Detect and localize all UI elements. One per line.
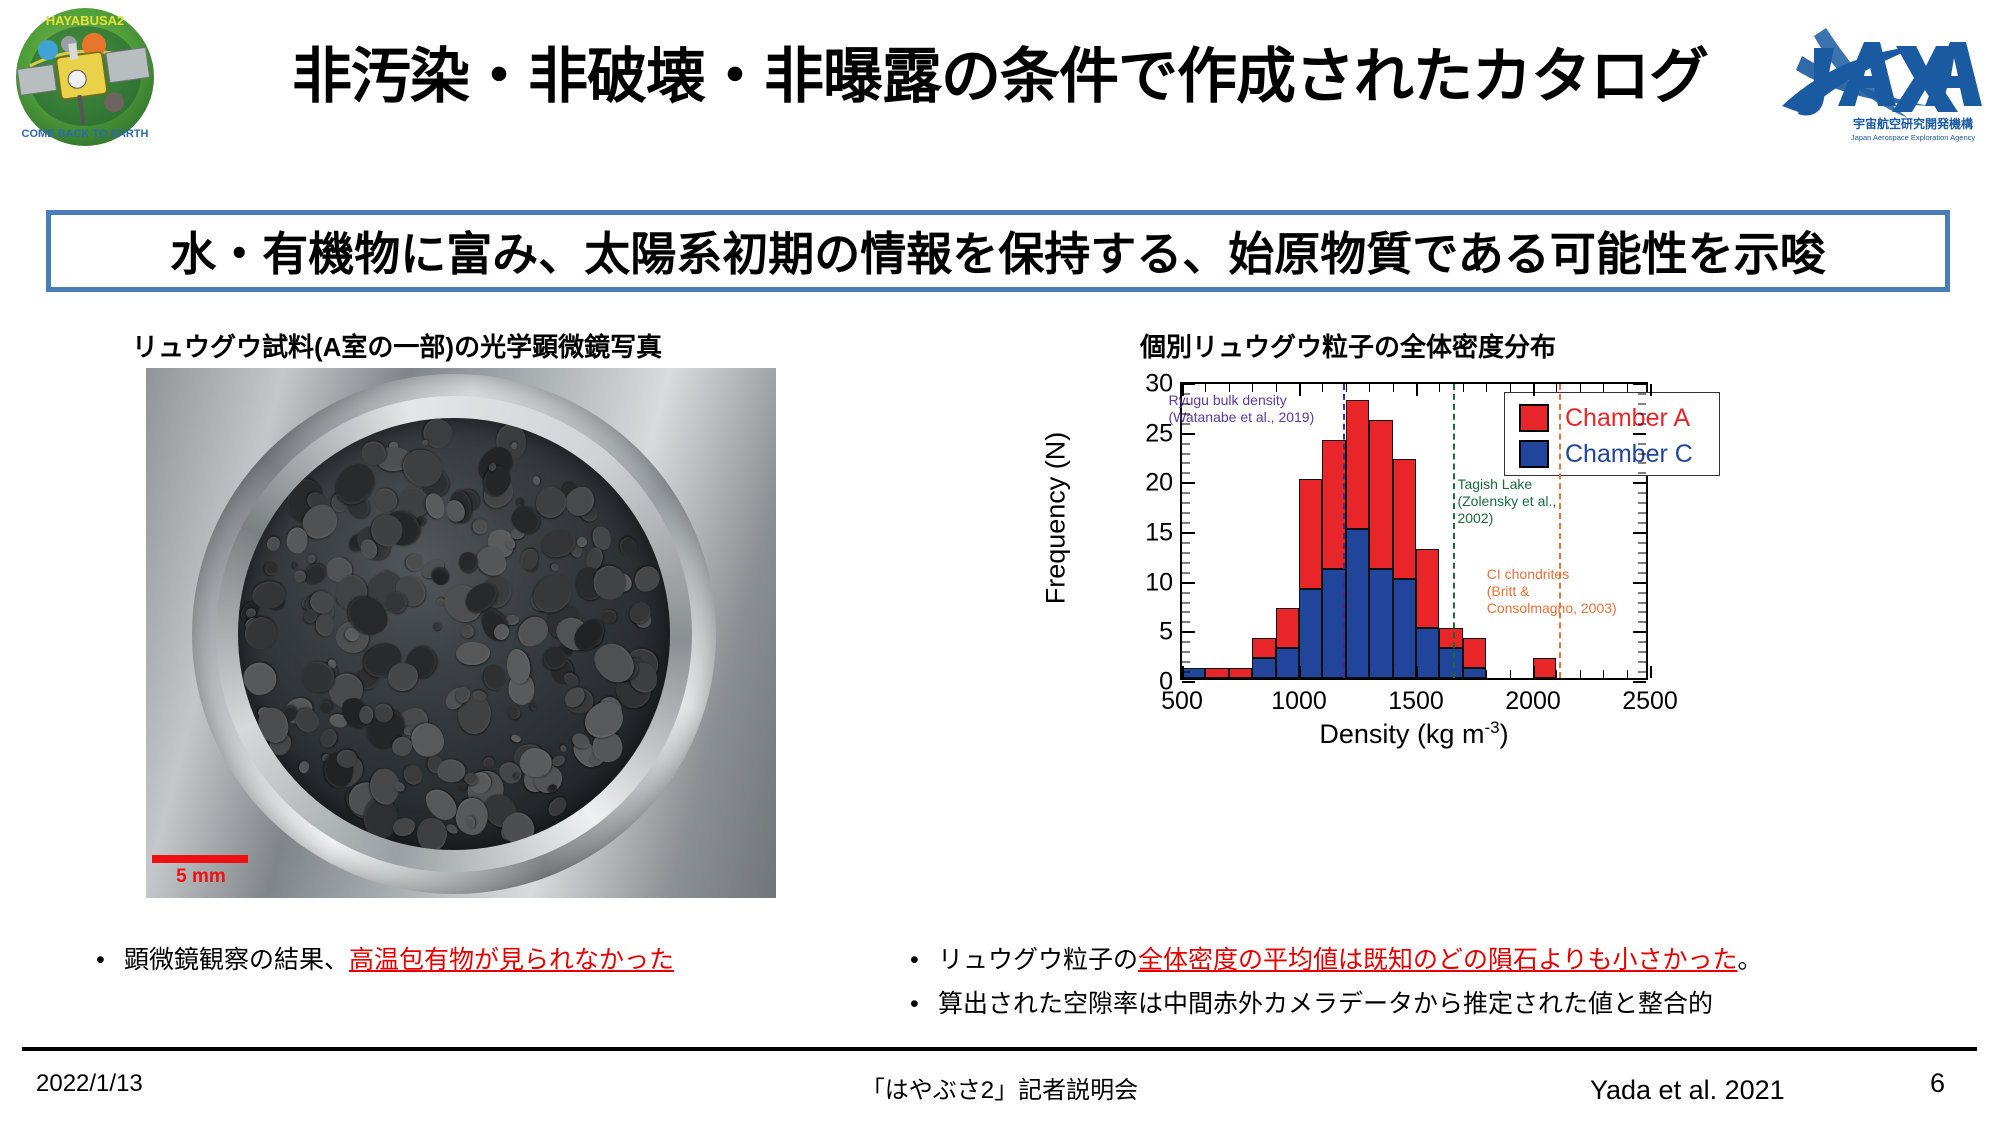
y-tick-mark xyxy=(1638,602,1646,603)
x-axis-label-base: Density (kg m xyxy=(1319,719,1484,749)
x-tick-mark xyxy=(1229,384,1230,392)
x-tick-mark xyxy=(1627,384,1628,392)
bullet-text-highlight: 高温包有物が見られなかった xyxy=(349,946,674,974)
bar-segment-chamber-a xyxy=(1533,658,1556,678)
x-tick-mark xyxy=(1182,666,1184,678)
left-panel-caption: リュウグウ試料(A室の一部)の光学顕微鏡写真 xyxy=(132,327,792,364)
x-tick-mark xyxy=(1346,670,1347,678)
x-tick-label: 1500 xyxy=(1388,687,1444,716)
reference-label-line: Consolmagno, 2003) xyxy=(1487,600,1617,617)
reference-line-tagish xyxy=(1453,384,1455,678)
y-tick-mark xyxy=(1182,582,1195,584)
x-tick-mark xyxy=(1439,384,1440,392)
sample-grain xyxy=(437,759,465,782)
y-tick-mark xyxy=(1182,562,1190,563)
y-tick-mark xyxy=(1182,602,1190,603)
sample-grain xyxy=(550,562,561,572)
sample-grain xyxy=(432,621,442,631)
right-panel-caption: 個別リュウグウ粒子の全体密度分布 xyxy=(1140,327,1700,364)
svg-text:COME BACK TO EARTH: COME BACK TO EARTH xyxy=(22,128,149,140)
histogram-bar xyxy=(1346,400,1369,678)
sample-grain xyxy=(316,726,340,751)
sample-grain xyxy=(510,733,522,743)
sample-grain xyxy=(358,705,373,724)
bar-segment-chamber-a xyxy=(1276,608,1299,648)
x-tick-label: 500 xyxy=(1161,687,1203,716)
bar-segment-chamber-c xyxy=(1393,579,1416,678)
x-tick-mark xyxy=(1580,384,1581,392)
reference-label-line: Tagish Lake xyxy=(1457,476,1556,493)
jaxa-logo-sub-en: Japan Aerospace Exploration Agency xyxy=(1851,133,1976,142)
y-tick-mark xyxy=(1638,473,1646,474)
reference-label-tagish: Tagish Lake(Zolensky et al.,2002) xyxy=(1457,476,1556,527)
x-tick-mark xyxy=(1322,384,1323,392)
sample-grain xyxy=(457,550,479,573)
x-tick-mark xyxy=(1299,384,1301,396)
y-tick-mark xyxy=(1638,542,1646,543)
y-tick-mark xyxy=(1638,642,1646,643)
sample-grain xyxy=(559,744,568,753)
y-tick-mark xyxy=(1638,503,1646,504)
x-tick-mark xyxy=(1627,670,1628,678)
y-tick-mark xyxy=(1638,652,1646,653)
y-tick-mark xyxy=(1638,572,1646,573)
reference-label-line: (Zolensky et al., xyxy=(1457,493,1556,510)
y-tick-mark xyxy=(1182,652,1190,653)
y-tick-mark xyxy=(1638,403,1646,404)
reference-label-ryugu: Ryugu bulk density(Watanabe et al., 2019… xyxy=(1168,392,1314,426)
x-tick-mark xyxy=(1533,666,1535,678)
legend-label-chamber-c: Chamber C xyxy=(1565,440,1693,469)
y-tick-mark xyxy=(1633,532,1646,534)
x-tick-mark xyxy=(1580,670,1581,678)
bar-segment-chamber-a xyxy=(1229,668,1252,678)
legend-entry-chamber-c: Chamber C xyxy=(1519,436,1719,472)
x-tick-mark xyxy=(1486,384,1487,392)
x-tick-mark xyxy=(1346,384,1347,392)
x-tick-label: 2000 xyxy=(1505,687,1561,716)
x-tick-label: 1000 xyxy=(1271,687,1327,716)
sample-grain xyxy=(629,561,665,596)
y-tick-mark xyxy=(1182,542,1190,543)
x-tick-mark xyxy=(1229,670,1230,678)
bar-segment-chamber-c xyxy=(1182,668,1205,678)
y-tick-mark xyxy=(1638,562,1646,563)
x-tick-mark xyxy=(1393,384,1394,392)
scale-bar-label: 5 mm xyxy=(146,866,256,888)
y-tick-mark xyxy=(1182,572,1190,573)
reference-label-line: CI chondrites xyxy=(1487,566,1617,583)
sample-grain xyxy=(421,439,429,446)
sample-grain xyxy=(482,663,508,692)
sample-grain xyxy=(371,514,402,546)
y-tick-mark xyxy=(1633,383,1646,385)
bullet-text-plain: 算出された空隙率は中間赤外カメラデータから推定された値と整合的 xyxy=(938,990,1713,1018)
legend-swatch-chamber-a xyxy=(1519,404,1549,432)
y-tick-label: 15 xyxy=(1145,519,1173,548)
legend-entry-chamber-a: Chamber A xyxy=(1519,400,1719,436)
x-tick-mark xyxy=(1650,384,1652,396)
x-tick-mark xyxy=(1533,384,1535,396)
histogram-bar xyxy=(1299,479,1322,678)
sample-grain xyxy=(418,418,457,453)
y-tick-mark xyxy=(1182,433,1195,435)
chart-plot-area: Chamber A Chamber C Ryugu bulk density(W… xyxy=(1180,382,1648,680)
sample-grain xyxy=(297,760,310,774)
sample-grain xyxy=(315,614,334,636)
sample-grain xyxy=(455,642,489,665)
x-tick-mark xyxy=(1369,670,1370,678)
x-tick-mark xyxy=(1463,384,1464,392)
y-tick-mark xyxy=(1638,493,1646,494)
y-tick-mark xyxy=(1633,681,1646,683)
bar-segment-chamber-a xyxy=(1439,628,1462,648)
x-axis-label-tail: ) xyxy=(1500,719,1509,749)
chart-x-axis-label: Density (kg m-3) xyxy=(1180,718,1648,750)
sample-grain xyxy=(505,702,523,720)
y-tick-mark xyxy=(1182,503,1190,504)
y-tick-mark xyxy=(1182,403,1190,404)
y-tick-mark xyxy=(1638,552,1646,553)
bar-segment-chamber-a xyxy=(1205,668,1228,678)
bar-segment-chamber-c xyxy=(1369,569,1392,678)
hayabusa2-mission-patch-icon: HAYABUSA2 COME BACK TO EARTH xyxy=(14,6,156,148)
y-tick-mark xyxy=(1638,523,1646,524)
reference-label-line: 2002) xyxy=(1457,510,1556,527)
x-tick-mark xyxy=(1205,670,1206,678)
y-tick-mark xyxy=(1638,592,1646,593)
bar-segment-chamber-c xyxy=(1439,648,1462,678)
histogram-bar xyxy=(1182,668,1205,678)
bullet-marker: • xyxy=(910,946,938,975)
x-tick-mark xyxy=(1252,384,1253,392)
sample-grain xyxy=(482,756,496,769)
histogram-bar xyxy=(1205,668,1228,678)
bullet-text-tail: 。 xyxy=(1738,946,1763,974)
y-tick-label: 25 xyxy=(1145,419,1173,448)
x-tick-mark xyxy=(1510,670,1511,678)
bar-segment-chamber-c xyxy=(1252,658,1275,678)
y-tick-mark xyxy=(1182,493,1190,494)
bar-segment-chamber-a xyxy=(1299,479,1322,588)
histogram-bar xyxy=(1393,459,1416,678)
histogram-bar xyxy=(1533,658,1556,678)
bullet-right-2: •算出された空隙率は中間赤外カメラデータから推定された値と整合的 xyxy=(910,984,1713,1020)
density-histogram-chart: Frequency (N) Chamber A Chamber C Ryugu … xyxy=(1060,368,1700,748)
y-tick-mark xyxy=(1638,393,1646,394)
y-tick-label: 5 xyxy=(1159,618,1173,647)
svg-text:HAYABUSA2: HAYABUSA2 xyxy=(46,13,125,28)
histogram-bar xyxy=(1439,628,1462,678)
x-tick-mark xyxy=(1463,670,1464,678)
reference-line-ryugu xyxy=(1343,384,1345,678)
y-tick-mark xyxy=(1638,413,1646,414)
y-tick-mark xyxy=(1633,631,1646,633)
jaxa-logo-sub-jp: 宇宙航空研究開発機構 xyxy=(1853,116,1973,131)
y-tick-mark xyxy=(1182,631,1195,633)
x-tick-mark xyxy=(1276,384,1277,392)
bullet-marker: • xyxy=(910,990,938,1019)
bullet-text-highlight: 全体密度の平均値は既知のどの隕石よりも小さかった xyxy=(1138,946,1738,974)
sample-grain xyxy=(318,699,334,715)
bar-segment-chamber-a xyxy=(1463,638,1486,668)
y-tick-mark xyxy=(1182,662,1190,663)
histogram-bar xyxy=(1463,638,1486,678)
y-tick-mark xyxy=(1638,672,1646,673)
y-tick-mark xyxy=(1633,482,1646,484)
x-tick-mark xyxy=(1252,670,1253,678)
bullet-right-1: •リュウグウ粒子の全体密度の平均値は既知のどの隕石よりも小さかった。 xyxy=(910,940,1763,976)
bar-segment-chamber-c xyxy=(1346,529,1369,678)
bar-segment-chamber-a xyxy=(1346,400,1369,529)
x-tick-mark xyxy=(1486,670,1487,678)
histogram-bar xyxy=(1252,638,1275,678)
y-tick-mark xyxy=(1182,592,1190,593)
histogram-bar xyxy=(1322,440,1345,678)
x-tick-mark xyxy=(1650,666,1652,678)
sample-grain xyxy=(617,534,641,559)
bar-segment-chamber-c xyxy=(1463,668,1486,678)
bullet-marker: • xyxy=(96,946,124,975)
y-tick-mark xyxy=(1638,612,1646,613)
sample-grain xyxy=(533,476,541,486)
x-tick-mark xyxy=(1416,666,1418,678)
highlight-box: 水・有機物に富み、太陽系初期の情報を保持する、始原物質である可能性を示唆 xyxy=(46,210,1950,292)
scale-bar xyxy=(152,855,248,863)
bar-segment-chamber-c xyxy=(1299,589,1322,678)
y-tick-mark xyxy=(1182,612,1190,613)
y-tick-mark xyxy=(1182,423,1190,424)
legend-swatch-chamber-c xyxy=(1519,440,1549,468)
sample-grain xyxy=(415,817,448,850)
histogram-bar xyxy=(1416,549,1439,678)
y-tick-label: 20 xyxy=(1145,469,1173,498)
y-tick-mark xyxy=(1182,463,1190,464)
y-tick-mark xyxy=(1638,513,1646,514)
jaxa-logo-icon: 宇宙航空研究開発機構 Japan Aerospace Exploration A… xyxy=(1768,22,1986,148)
bullet-text-plain: リュウグウ粒子の xyxy=(938,946,1138,974)
page-title: 非汚染・非破壊・非曝露の条件で作成されたカタログ xyxy=(240,28,1760,115)
sample-grain xyxy=(262,559,280,578)
bar-segment-chamber-a xyxy=(1322,440,1345,569)
legend-label-chamber-a: Chamber A xyxy=(1565,404,1690,433)
y-tick-mark xyxy=(1638,662,1646,663)
y-tick-mark xyxy=(1182,532,1195,534)
bar-segment-chamber-a xyxy=(1369,420,1392,569)
sample-grain xyxy=(287,528,308,554)
sample-grain xyxy=(471,517,489,535)
bar-segment-chamber-c xyxy=(1276,648,1299,678)
y-tick-mark xyxy=(1182,552,1190,553)
bullet-text-plain: 顕微鏡観察の結果、 xyxy=(124,946,349,974)
y-tick-mark xyxy=(1182,413,1190,414)
highlight-text: 水・有機物に富み、太陽系初期の情報を保持する、始原物質である可能性を示唆 xyxy=(51,215,1945,287)
y-tick-mark xyxy=(1638,463,1646,464)
x-tick-mark xyxy=(1510,384,1511,392)
bar-segment-chamber-a xyxy=(1252,638,1275,658)
y-tick-mark xyxy=(1633,582,1646,584)
y-tick-mark xyxy=(1182,482,1195,484)
histogram-bar xyxy=(1369,420,1392,678)
x-tick-mark xyxy=(1416,384,1418,396)
footer-citation: Yada et al. 2021 xyxy=(1590,1075,1785,1106)
y-tick-mark xyxy=(1182,453,1190,454)
y-tick-mark xyxy=(1182,642,1190,643)
sample-grain xyxy=(422,491,447,521)
reference-line-ci xyxy=(1559,384,1561,678)
x-axis-label-exponent: -3 xyxy=(1484,718,1499,737)
x-tick-mark xyxy=(1299,666,1301,678)
histogram-bar xyxy=(1229,668,1252,678)
footer-divider xyxy=(22,1047,1977,1051)
reference-label-line: (Britt & xyxy=(1487,583,1617,600)
ryugu-sample-optical-micrograph xyxy=(146,368,776,898)
x-tick-mark xyxy=(1439,670,1440,678)
x-tick-label: 2500 xyxy=(1622,687,1678,716)
x-tick-mark xyxy=(1369,384,1370,392)
bullet-left-1: •顕微鏡観察の結果、高温包有物が見られなかった xyxy=(96,940,674,976)
sample-grain xyxy=(545,793,570,819)
x-tick-mark xyxy=(1205,384,1206,392)
reference-label-line: Ryugu bulk density xyxy=(1168,392,1314,409)
y-tick-mark xyxy=(1633,433,1646,435)
slide-root: HAYABUSA2 COME BACK TO EARTH 非汚染・非破壊・非曝露… xyxy=(0,0,1999,1125)
chart-legend: Chamber A Chamber C xyxy=(1504,392,1720,476)
x-tick-mark xyxy=(1603,670,1604,678)
sample-grain xyxy=(458,622,476,640)
y-tick-mark xyxy=(1182,523,1190,524)
bar-segment-chamber-a xyxy=(1393,459,1416,578)
x-tick-mark xyxy=(1556,384,1557,392)
footer-page-number: 6 xyxy=(1930,1068,1945,1099)
y-tick-label: 10 xyxy=(1145,568,1173,597)
sample-grain xyxy=(292,562,298,570)
x-tick-mark xyxy=(1322,670,1323,678)
y-tick-mark xyxy=(1638,622,1646,623)
x-tick-mark xyxy=(1393,670,1394,678)
bar-segment-chamber-c xyxy=(1322,569,1345,678)
y-tick-label: 30 xyxy=(1145,370,1173,399)
y-tick-mark xyxy=(1182,443,1190,444)
y-tick-mark xyxy=(1182,681,1195,683)
sample-grain xyxy=(267,537,282,552)
bar-segment-chamber-a xyxy=(1416,549,1439,628)
x-tick-mark xyxy=(1276,670,1277,678)
y-tick-mark xyxy=(1182,622,1190,623)
reference-label-line: (Watanabe et al., 2019) xyxy=(1168,409,1314,426)
sample-grain xyxy=(600,609,617,625)
sample-grain xyxy=(530,703,538,712)
y-tick-mark xyxy=(1182,473,1190,474)
y-tick-mark xyxy=(1638,423,1646,424)
bar-segment-chamber-c xyxy=(1416,628,1439,678)
x-tick-mark xyxy=(1603,384,1604,392)
y-tick-mark xyxy=(1182,513,1190,514)
x-tick-mark xyxy=(1182,384,1184,396)
sample-bed xyxy=(238,418,670,850)
reference-label-ci: CI chondrites(Britt &Consolmagno, 2003) xyxy=(1487,566,1617,617)
y-tick-mark xyxy=(1638,443,1646,444)
chart-y-axis-label: Frequency (N) xyxy=(1041,432,1072,605)
histogram-bar xyxy=(1276,608,1299,678)
x-tick-mark xyxy=(1556,670,1557,678)
y-tick-mark xyxy=(1638,453,1646,454)
